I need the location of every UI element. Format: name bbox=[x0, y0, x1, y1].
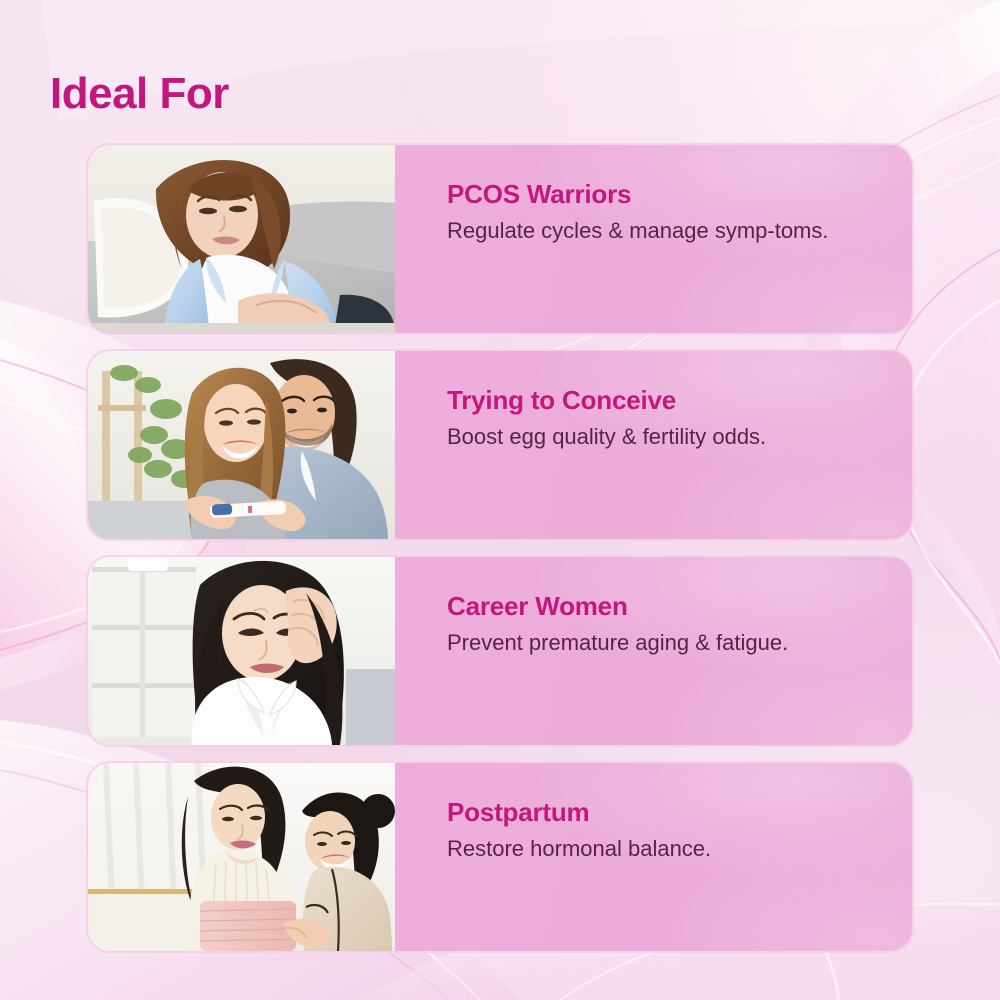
ideal-for-card[interactable]: Career Women Prevent premature aging & f… bbox=[88, 557, 912, 745]
card-image-pcos-warriors bbox=[88, 145, 395, 333]
card-heading: Trying to Conceive bbox=[447, 385, 866, 416]
ideal-for-card[interactable]: Trying to Conceive Boost egg quality & f… bbox=[88, 351, 912, 539]
ideal-for-card[interactable]: Postpartum Restore hormonal balance. bbox=[88, 763, 912, 951]
card-text-block: PCOS Warriors Regulate cycles & manage s… bbox=[395, 145, 912, 333]
card-heading: Career Women bbox=[447, 591, 866, 622]
card-text-block: Trying to Conceive Boost egg quality & f… bbox=[395, 351, 912, 539]
card-description: Boost egg quality & fertility odds. bbox=[447, 422, 866, 451]
card-heading: PCOS Warriors bbox=[447, 179, 866, 210]
card-description: Prevent premature aging & fatigue. bbox=[447, 628, 866, 657]
ideal-for-card[interactable]: PCOS Warriors Regulate cycles & manage s… bbox=[88, 145, 912, 333]
ideal-for-page: Ideal For bbox=[0, 0, 1000, 1000]
card-description: Restore hormonal balance. bbox=[447, 834, 866, 863]
card-description: Regulate cycles & manage symp-toms. bbox=[447, 216, 866, 245]
card-image-career-women bbox=[88, 557, 395, 745]
card-heading: Postpartum bbox=[447, 797, 866, 828]
card-image-trying-to-conceive bbox=[88, 351, 395, 539]
ideal-for-card-list: PCOS Warriors Regulate cycles & manage s… bbox=[88, 145, 912, 951]
card-text-block: Career Women Prevent premature aging & f… bbox=[395, 557, 912, 745]
page-title: Ideal For bbox=[50, 70, 229, 118]
card-text-block: Postpartum Restore hormonal balance. bbox=[395, 763, 912, 951]
card-image-postpartum bbox=[88, 763, 395, 951]
